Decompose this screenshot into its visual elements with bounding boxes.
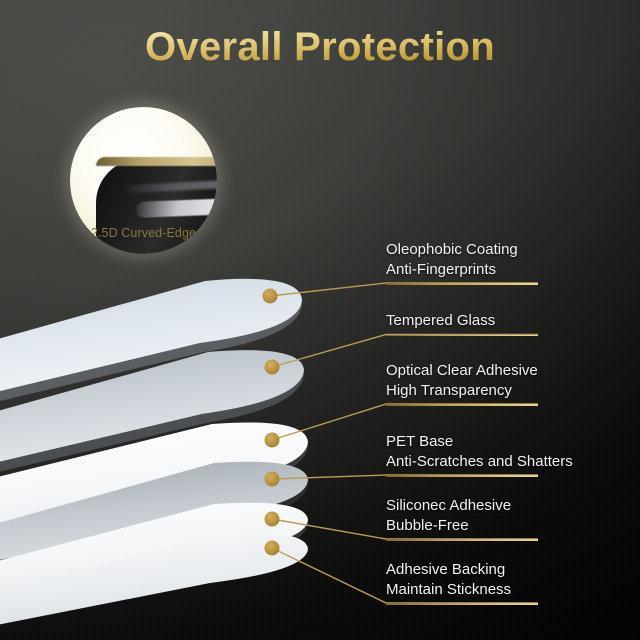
callout-dot-3[interactable] [265, 433, 280, 448]
callout-underline [386, 475, 538, 477]
callout-dot-1[interactable] [263, 289, 278, 304]
callout-line-secondary: Anti-Scratches and Shatters [386, 452, 573, 472]
callout-3[interactable]: Optical Clear AdhesiveHigh Transparency [386, 361, 538, 406]
callout-line-primary: Optical Clear Adhesive [386, 361, 538, 381]
callout-4[interactable]: PET BaseAnti-Scratches and Shatters [386, 432, 573, 477]
callout-line-secondary: High Transparency [386, 381, 538, 401]
callout-line-primary: Adhesive Backing [386, 560, 538, 580]
callout-underline [386, 404, 538, 406]
callout-6[interactable]: Adhesive BackingMaintain Stickness [386, 560, 538, 605]
callout-line-secondary: Anti-Fingerprints [386, 260, 538, 280]
callout-line-secondary: Bubble-Free [386, 516, 538, 536]
layer-stack [0, 0, 640, 640]
callout-dot-6[interactable] [265, 541, 280, 556]
callout-2[interactable]: Tempered Glass [386, 311, 538, 336]
callout-line-secondary: Maintain Stickness [386, 580, 538, 600]
callout-underline [386, 335, 538, 337]
leader-line-1 [270, 283, 538, 296]
callout-underline [386, 603, 538, 605]
callout-1[interactable]: Oleophobic CoatingAnti-Fingerprints [386, 240, 538, 285]
callout-dot-2[interactable] [265, 360, 280, 375]
product-infographic: Overall Protection 2.5D Curved-Edge [0, 0, 640, 640]
callout-dot-4[interactable] [265, 472, 280, 487]
callout-line-primary: Tempered Glass [386, 311, 538, 331]
callout-line-primary: Siliconec Adhesive [386, 496, 538, 516]
callout-underline [386, 539, 538, 541]
callout-line-primary: Oleophobic Coating [386, 240, 538, 260]
callout-line-primary: PET Base [386, 432, 573, 452]
callout-dot-5[interactable] [265, 512, 280, 527]
callout-underline [386, 283, 538, 285]
callout-5[interactable]: Siliconec AdhesiveBubble-Free [386, 496, 538, 541]
